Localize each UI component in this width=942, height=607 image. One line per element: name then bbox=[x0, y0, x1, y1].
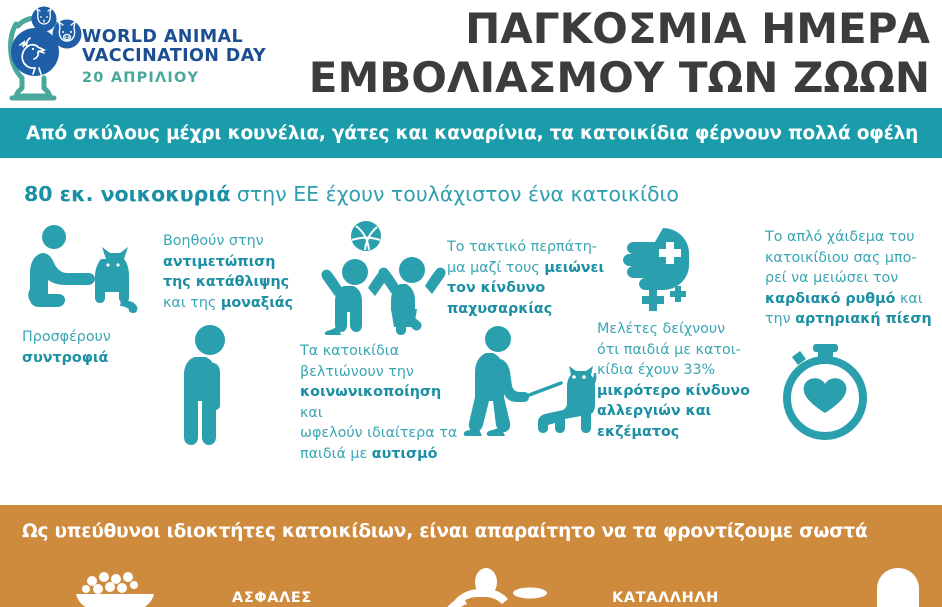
top-banner: Από σκύλους μέχρι κουνέλια, γάτες και κα… bbox=[0, 108, 942, 158]
benefit-depression: Βοηθούν στην αντιμετώπιση της κατάθλιψης… bbox=[163, 231, 303, 445]
caption-line: εκζέματος bbox=[597, 422, 772, 443]
logo-line-1: WORLD ANIMAL bbox=[82, 28, 307, 47]
caption-line: μικρότερο κίνδυνο bbox=[597, 381, 772, 402]
benefits-area: Προσφέρουν συντροφιά Βοηθούν στην αντιμε… bbox=[0, 215, 942, 500]
caption-line: τον κίνδυνο bbox=[447, 278, 607, 299]
caption-line: της κατάθλιψης bbox=[163, 272, 303, 293]
caption-line: Μελέτες δείχνουν bbox=[597, 319, 772, 340]
caption-line: αντιμετώπιση bbox=[163, 252, 303, 273]
caption-line: μα μαζί τους μειώνει bbox=[447, 258, 607, 279]
benefit-socialisation-caption: Τα κατοικίδια βελτιώνουν την κοινωνικοπο… bbox=[300, 341, 460, 464]
caption-line: αλλεργιών και bbox=[597, 401, 772, 422]
caption-line: κατοικίδιου σας μπο- bbox=[765, 248, 935, 269]
pet-food-bowl-icon bbox=[62, 567, 172, 607]
logo-line-3: 20 ΑΠΡΙΛΙΟΥ bbox=[82, 68, 307, 88]
title-line-2: ΕΜΒΟΛΙΑΣΜΟΥ ΤΩΝ ΖΩΩΝ bbox=[300, 53, 930, 102]
person-walking-dog-icon bbox=[453, 325, 607, 440]
subheading-rest: στην ΕΕ έχουν τουλάχιστον ένα κατοικίδιο bbox=[230, 182, 679, 206]
top-banner-text: Από σκύλους μέχρι κουνέλια, γάτες και κα… bbox=[26, 123, 918, 144]
caption-line: συντροφιά bbox=[22, 348, 142, 369]
benefit-companionship: Προσφέρουν συντροφιά bbox=[22, 223, 142, 368]
header: WORLD ANIMAL VACCINATION DAY 20 ΑΠΡΙΛΙΟΥ… bbox=[0, 0, 942, 108]
benefit-obesity: Το τακτικό περπάτη- μα μαζί τους μειώνει… bbox=[447, 237, 607, 440]
caption-line: Βοηθούν στην bbox=[163, 231, 303, 252]
caption-line: παχυσαρκίας bbox=[447, 299, 607, 320]
infographic-root: WORLD ANIMAL VACCINATION DAY 20 ΑΠΡΙΛΙΟΥ… bbox=[0, 0, 942, 607]
bottom-banner-text: Ως υπεύθυνοι ιδιοκτήτες κατοικίδιων, είν… bbox=[22, 521, 868, 542]
caption-line: καρδιακό ρυθμό και bbox=[765, 289, 935, 310]
bottom-label-suitable: ΚΑΤΑΛΛΗΛΗ bbox=[612, 590, 719, 606]
caption-line: κοινωνικοποίηση και bbox=[300, 382, 460, 423]
benefit-depression-caption: Βοηθούν στην αντιμετώπιση της κατάθλιψης… bbox=[163, 231, 303, 313]
caption-line: Προσφέρουν bbox=[22, 327, 142, 348]
benefit-companionship-caption: Προσφέρουν συντροφιά bbox=[22, 327, 142, 368]
benefit-obesity-caption: Το τακτικό περπάτη- μα μαζί τους μειώνει… bbox=[447, 237, 607, 319]
benefit-heart-rate-caption: Το απλό χάιδεμα του κατοικίδιου σας μπο-… bbox=[765, 227, 935, 330]
bottom-label-safe: ΑΣΦΑΛΕΣ bbox=[232, 590, 312, 606]
caption-line: ωφελούν ιδιαίτερα τα bbox=[300, 423, 460, 444]
two-children-with-ball-icon bbox=[314, 220, 460, 335]
bottom-banner: Ως υπεύθυνοι ιδιοκτήτες κατοικίδιων, είν… bbox=[0, 505, 942, 607]
subheading-strong: 80 εκ. νοικοκυριά bbox=[24, 182, 230, 206]
pet-bed-icon bbox=[855, 565, 942, 607]
caption-line: κίδια έχουν 33% bbox=[597, 360, 772, 381]
subheading: 80 εκ. νοικοκυριά στην ΕΕ έχουν τουλάχισ… bbox=[24, 182, 679, 206]
stopwatch-with-heart-icon bbox=[773, 340, 935, 445]
title-line-1: ΠΑΓΚΟΣΜΙΑ ΗΜΕΡΑ bbox=[300, 4, 930, 53]
caption-line: Τα κατοικίδια bbox=[300, 341, 460, 362]
standing-person-icon bbox=[177, 323, 303, 445]
globe-with-animals-logo bbox=[6, 2, 84, 102]
benefit-heart-rate: Το απλό χάιδεμα του κατοικίδιου σας μπο-… bbox=[765, 227, 935, 445]
caption-line: ρεί να μειώσει τον bbox=[765, 268, 935, 289]
caption-line: ότι παιδιά με κατοι- bbox=[597, 340, 772, 361]
page-title: ΠΑΓΚΟΣΜΙΑ ΗΜΕΡΑ ΕΜΒΟΛΙΑΣΜΟΥ ΤΩΝ ΖΩΩΝ bbox=[300, 4, 930, 102]
logo-text: WORLD ANIMAL VACCINATION DAY 20 ΑΠΡΙΛΙΟΥ bbox=[82, 28, 307, 88]
caption-line: Το απλό χάιδεμα του bbox=[765, 227, 935, 248]
benefit-allergies-caption: Μελέτες δείχνουν ότι παιδιά με κατοι- κί… bbox=[597, 319, 772, 442]
benefit-allergies: Μελέτες δείχνουν ότι παιδιά με κατοι- κί… bbox=[597, 220, 772, 442]
caption-line: και της μοναξιάς bbox=[163, 293, 303, 314]
person-throwing-frisbee-icon bbox=[430, 565, 560, 607]
caption-line: Το τακτικό περπάτη- bbox=[447, 237, 607, 258]
benefit-socialisation: Τα κατοικίδια βελτιώνουν την κοινωνικοπο… bbox=[300, 220, 460, 464]
hand-with-medical-crosses-icon bbox=[611, 220, 772, 315]
person-petting-cat-icon bbox=[22, 223, 142, 323]
logo-block: WORLD ANIMAL VACCINATION DAY 20 ΑΠΡΙΛΙΟΥ bbox=[6, 2, 306, 106]
caption-line: την αρτηριακή πίεση bbox=[765, 309, 935, 330]
caption-line: παιδιά με αυτισμό bbox=[300, 444, 460, 465]
logo-line-2: VACCINATION DAY bbox=[82, 47, 307, 66]
caption-line: βελτιώνουν την bbox=[300, 362, 460, 383]
